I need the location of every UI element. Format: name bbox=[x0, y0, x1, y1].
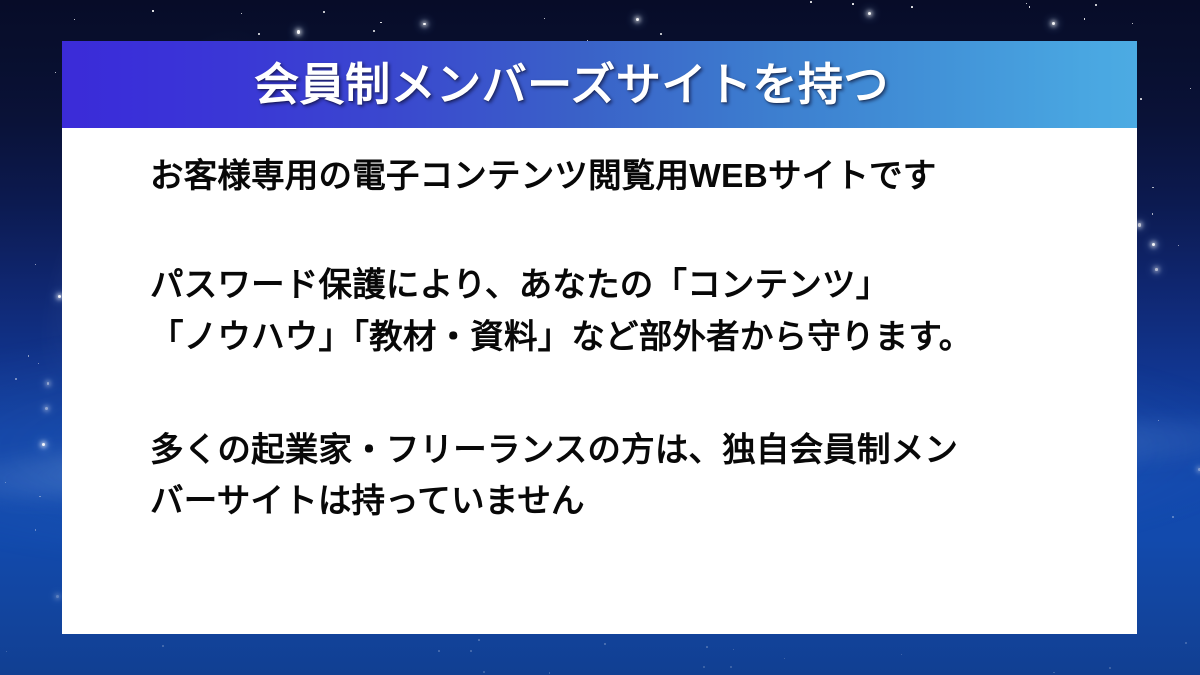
body-paragraph: パスワード保護により、あなたの「コンテンツ」 「ノウハウ」「教材・資料」など部外… bbox=[150, 260, 1090, 363]
body-line: お客様専用の電子コンテンツ閲覧用WEBサイトです bbox=[150, 151, 1090, 202]
body-line: パスワード保護により、あなたの「コンテンツ」 bbox=[150, 260, 1090, 311]
body-line: 「ノウハウ」「教材・資料」など部外者から守ります。 bbox=[150, 312, 1090, 363]
body-paragraph: お客様専用の電子コンテンツ閲覧用WEBサイトです bbox=[150, 151, 1090, 202]
body-line: 多くの起業家・フリーランスの方は、独自会員制メン bbox=[150, 425, 1090, 476]
body-line: バーサイトは持っていません bbox=[150, 476, 1090, 527]
slide-title: 会員制メンバーズサイトを持つ bbox=[254, 62, 889, 107]
body-paragraph: 多くの起業家・フリーランスの方は、独自会員制メン バーサイトは持っていません bbox=[150, 425, 1090, 528]
content-card: 会員制メンバーズサイトを持つ お客様専用の電子コンテンツ閲覧用WEBサイトです … bbox=[62, 41, 1137, 634]
title-banner: 会員制メンバーズサイトを持つ bbox=[62, 41, 1137, 128]
slide: 会員制メンバーズサイトを持つ お客様専用の電子コンテンツ閲覧用WEBサイトです … bbox=[0, 0, 1200, 675]
slide-body: お客様専用の電子コンテンツ閲覧用WEBサイトです パスワード保護により、あなたの… bbox=[150, 151, 1090, 527]
